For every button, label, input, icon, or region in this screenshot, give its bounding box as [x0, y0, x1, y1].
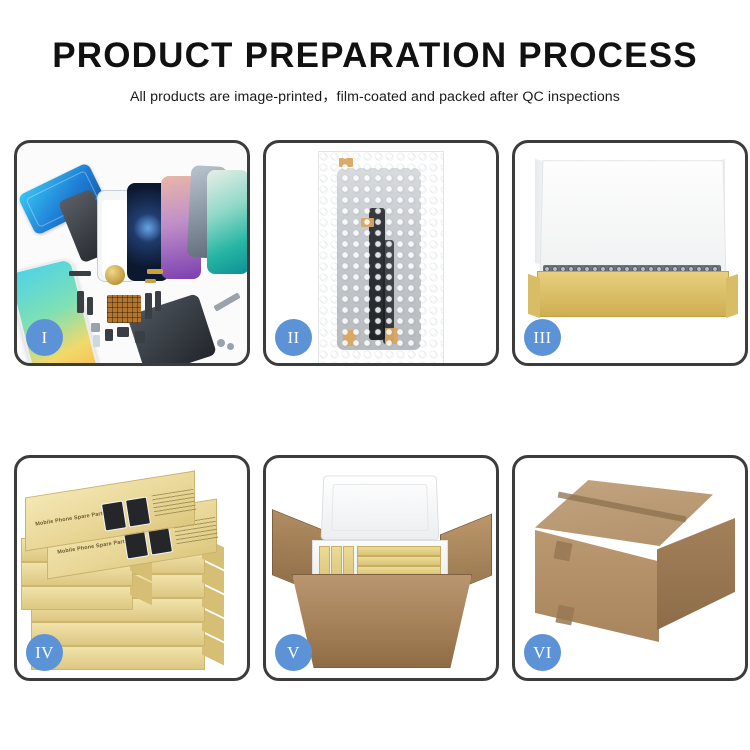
step-badge-3: III: [524, 319, 561, 356]
tape-piece-icon: [339, 158, 353, 167]
page-title: PRODUCT PREPARATION PROCESS: [0, 38, 750, 75]
component-chip-icon: [117, 327, 129, 337]
step-badge-1: I: [26, 319, 63, 356]
process-step-panel-2: II: [263, 140, 499, 366]
tweezers-icon: [213, 292, 240, 311]
component-chip-icon: [87, 297, 93, 315]
process-step-panel-3: III: [512, 140, 748, 366]
tape-piece-icon: [361, 218, 374, 227]
packed-yellow-box: [357, 546, 441, 556]
component-chip-icon: [105, 329, 113, 341]
carton-top-face-icon: [535, 480, 713, 546]
screw-icon: [227, 343, 234, 350]
shipping-carton-body-icon: [292, 574, 472, 668]
step-badge-4: IV: [26, 634, 63, 671]
stacked-box-layer: [21, 586, 133, 610]
component-chip-icon: [69, 271, 91, 276]
tape-piece-icon: [343, 330, 356, 346]
tape-piece-icon: [385, 328, 398, 344]
carton-tape-tab-icon: [555, 605, 574, 626]
step-badge-2: II: [275, 319, 312, 356]
bubble-wrap-bag-icon: [318, 151, 444, 365]
process-step-panel-5: V: [263, 455, 499, 681]
kraft-box-tray-icon: [537, 271, 729, 317]
white-foam-lid-icon: [540, 160, 727, 279]
gold-component-icon: [105, 265, 125, 285]
header: PRODUCT PREPARATION PROCESS All products…: [0, 38, 750, 106]
process-step-panel-6: VI: [512, 455, 748, 681]
component-chip-icon: [93, 335, 100, 347]
carton-tape-tab-icon: [553, 541, 572, 562]
page-subtitle: All products are image-printed，film-coat…: [0, 86, 750, 106]
component-chip-icon: [155, 291, 161, 311]
box-screen-graphic-icon: [101, 500, 127, 531]
step-badge-5: V: [275, 634, 312, 671]
process-step-panel-4: Mobile Phone Spare Parts Mobile Phone Sp…: [14, 455, 250, 681]
component-chip-icon: [145, 293, 152, 319]
teal-gradient-phone-icon: [207, 170, 249, 274]
process-step-panel-1: I: [14, 140, 250, 366]
component-chip-icon: [77, 291, 84, 313]
packed-yellow-box: [357, 556, 441, 566]
component-chip-icon: [91, 323, 100, 332]
circuit-board-icon: [107, 295, 141, 323]
component-chip-icon: [145, 279, 156, 283]
box-screen-graphic-icon: [125, 496, 151, 527]
component-chip-icon: [147, 269, 163, 274]
screw-icon: [217, 339, 225, 347]
process-step-grid: I II: [14, 140, 736, 685]
step-badge-6: VI: [524, 634, 561, 671]
product-preparation-infographic: PRODUCT PREPARATION PROCESS All products…: [0, 0, 750, 750]
open-foam-lid-icon: [321, 475, 440, 540]
component-chip-icon: [135, 331, 145, 343]
carton-front-face-icon: [535, 530, 659, 642]
